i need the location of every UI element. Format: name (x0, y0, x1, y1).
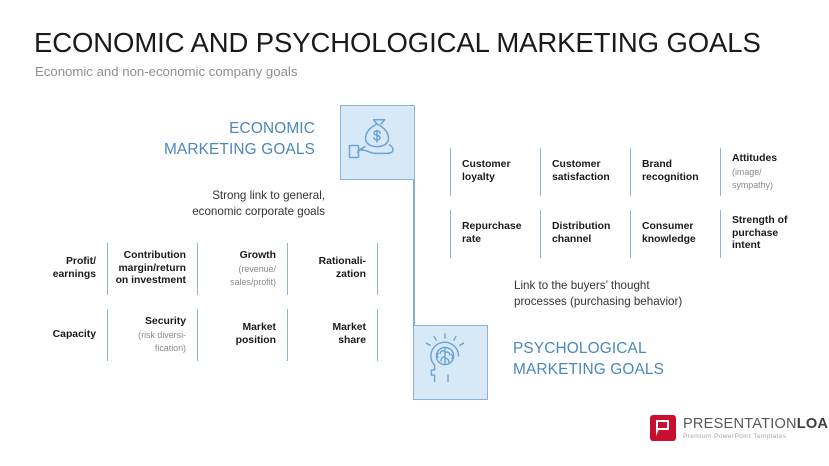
cell-main-text: Growth (240, 250, 276, 263)
economic-heading-line2: MARKETING GOALS (130, 139, 315, 160)
psychological-cell[interactable]: Distributionchannel (540, 210, 630, 258)
psychological-cell[interactable]: Repurchaserate (450, 210, 540, 258)
cell-main-text: Rationali-zation (319, 256, 366, 281)
cell-sub-text: (image/sympathy) (732, 166, 773, 191)
economic-icon-box (340, 105, 415, 180)
speech-bubble-logo-icon (650, 415, 676, 441)
economic-link-note: Strong link to general, economic corpora… (155, 188, 325, 219)
cell-main-text: Contributionmargin/returnon investment (116, 250, 186, 288)
cell-main-text: Consumerknowledge (642, 221, 696, 246)
economic-heading: ECONOMIC MARKETING GOALS (130, 118, 315, 160)
economic-cell[interactable]: Contributionmargin/returnon investment (108, 243, 198, 295)
presentationload-logo[interactable]: PRESENTATIONLOAD® Premium PowerPoint Tem… (650, 415, 829, 441)
economic-note-line1: Strong link to general, (155, 188, 325, 204)
page-title: ECONOMIC AND PSYCHOLOGICAL MARKETING GOA… (34, 27, 761, 59)
cell-main-text: Repurchaserate (462, 221, 521, 246)
cell-main-text: Capacity (53, 329, 96, 342)
economic-cell[interactable]: Security (risk diversi-fication) (108, 309, 198, 361)
psychological-cell[interactable]: Customersatisfaction (540, 148, 630, 196)
bubble-tail-shape (656, 429, 659, 436)
psychological-cell[interactable]: Consumerknowledge (630, 210, 720, 258)
economic-cell[interactable]: Marketshare (288, 309, 378, 361)
cell-sub-text: (revenue/sales/profit) (230, 263, 276, 288)
economic-note-line2: economic corporate goals (155, 204, 325, 220)
psychological-cell[interactable]: Attitudes (image/sympathy) (720, 148, 810, 196)
logo-name-light: PRESENTATION (683, 416, 797, 432)
psychological-link-note: Link to the buyers’ thought processes (p… (514, 278, 744, 309)
psychological-goals-grid: Customerloyalty Customersatisfaction Bra… (450, 148, 810, 258)
cell-main-text: Marketshare (333, 322, 367, 347)
cell-main-text: Customerloyalty (462, 159, 511, 184)
psychological-heading: PSYCHOLOGICAL MARKETING GOALS (513, 338, 743, 380)
cell-main-text: Attitudes (732, 153, 777, 166)
logo-tagline: Premium PowerPoint Templates (683, 433, 829, 440)
psychological-cell[interactable]: Brandrecognition (630, 148, 720, 196)
cell-main-text: Security (145, 316, 186, 329)
cell-main-text: Customersatisfaction (552, 159, 610, 184)
cell-sub-text: (risk diversi-fication) (138, 329, 186, 354)
psychological-cell[interactable]: Customerloyalty (450, 148, 540, 196)
page-subtitle: Economic and non-economic company goals (35, 64, 297, 79)
psychological-note-line1: Link to the buyers’ thought (514, 278, 744, 294)
logo-wordmark: PRESENTATIONLOAD® (683, 416, 829, 432)
psychological-cell[interactable]: Strength ofpurchaseintent (720, 210, 810, 258)
cell-main-text: Marketposition (236, 322, 276, 347)
economic-cell[interactable]: Capacity (18, 309, 108, 361)
cell-main-text: Strength ofpurchaseintent (732, 215, 787, 253)
economic-heading-line1: ECONOMIC (130, 118, 315, 139)
logo-text-block: PRESENTATIONLOAD® Premium PowerPoint Tem… (683, 415, 829, 440)
psychological-heading-line1: PSYCHOLOGICAL (513, 338, 743, 359)
cell-main-text: Brandrecognition (642, 159, 699, 184)
psychological-heading-line2: MARKETING GOALS (513, 359, 743, 380)
psychological-note-line2: processes (purchasing behavior) (514, 294, 744, 310)
slide-canvas: ECONOMIC AND PSYCHOLOGICAL MARKETING GOA… (0, 0, 829, 466)
psychological-icon-box (413, 325, 488, 400)
head-with-brain-icon (414, 326, 487, 399)
economic-cell[interactable]: Profit/earnings (18, 243, 108, 295)
cell-main-text: Profit/earnings (53, 256, 96, 281)
cell-main-text: Distributionchannel (552, 221, 610, 246)
economic-cell[interactable]: Marketposition (198, 309, 288, 361)
logo-name-bold: LOAD (797, 416, 829, 432)
economic-cell[interactable]: Rationali-zation (288, 243, 378, 295)
economic-goals-grid: Profit/earnings Contributionmargin/retur… (18, 243, 378, 361)
economic-cell[interactable]: Growth (revenue/sales/profit) (198, 243, 288, 295)
money-bag-in-hand-icon (341, 106, 414, 179)
